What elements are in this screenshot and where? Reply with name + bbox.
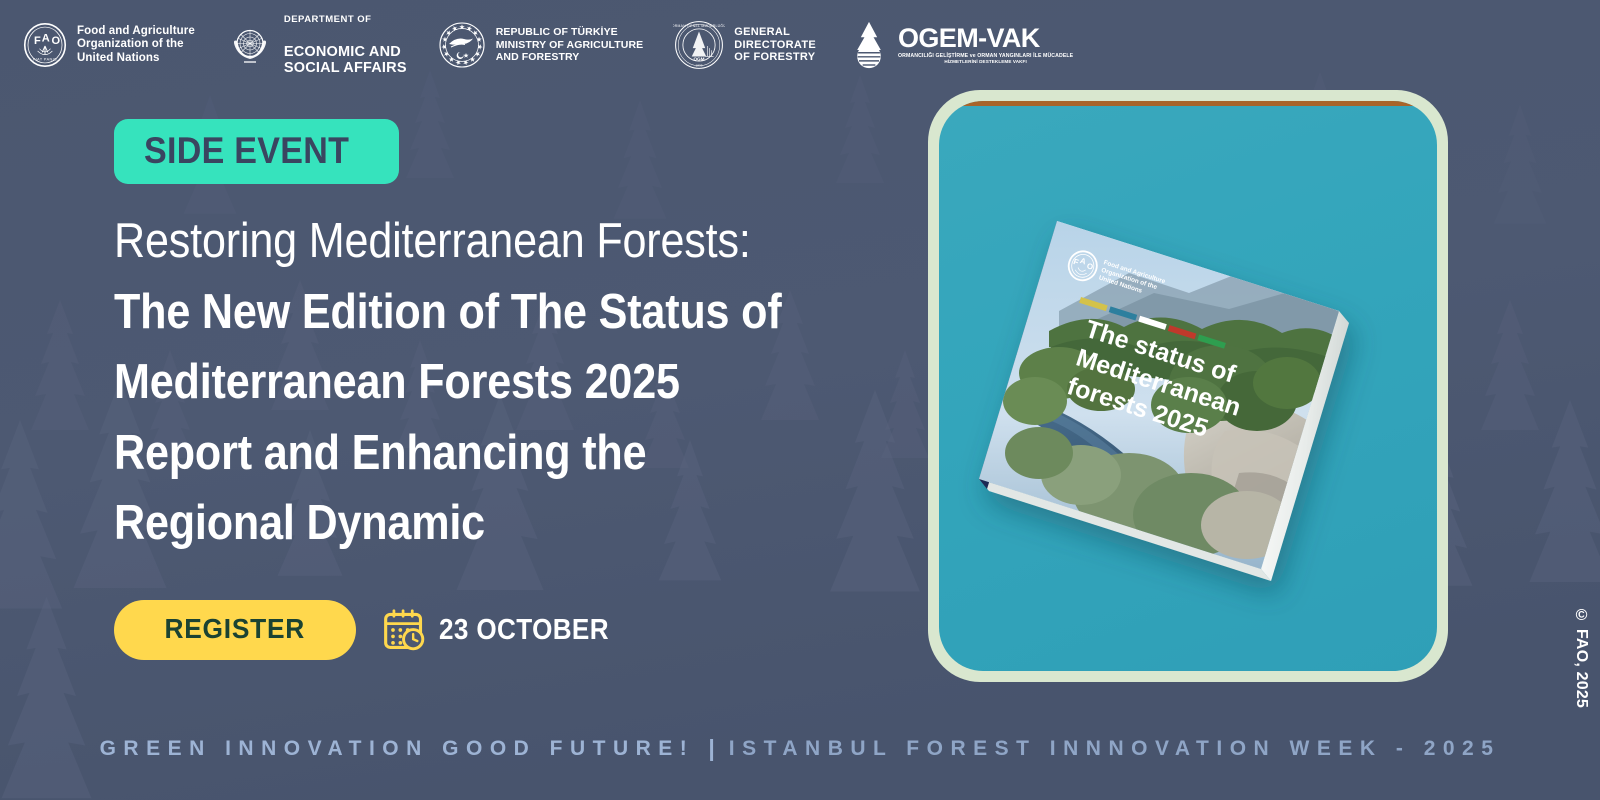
footer-tagline: GREEN INNOVATION GOOD FUTURE! | ISTANBUL… [0, 735, 1600, 762]
logo-un-desa: DEPARTMENT OF ECONOMIC ANDSOCIAL AFFAIRS [225, 0, 437, 95]
headline-line-3: Mediterranean Forests 2025 [114, 347, 818, 418]
logo-turkiye-ministry: REPUBLIC OF TÜRKİYEMINISTRY OF AGRICULTU… [437, 20, 674, 70]
logo-turkiye-label: REPUBLIC OF TÜRKİYEMINISTRY OF AGRICULTU… [496, 26, 644, 63]
event-headline: Restoring Mediterranean Forests: The New… [114, 206, 914, 559]
ogem-vak-tree-icon [846, 20, 892, 70]
svg-text:ORMAN GENEL MÜDÜRLÜĞÜ: ORMAN GENEL MÜDÜRLÜĞÜ [673, 23, 725, 28]
headline-line-2: The New Edition of The Status of [114, 277, 818, 348]
book-cover-panel: F A O Food and Agriculture Organization … [928, 90, 1448, 682]
register-button[interactable]: REGISTER [114, 600, 356, 660]
book-mockup: F A O Food and Agriculture Organization … [939, 101, 1437, 671]
side-event-badge-label: SIDE EVENT [144, 132, 349, 169]
ogem-vak-subtitle-2: HİZMETLERİNİ DESTEKLEME VAKFI [898, 59, 1073, 64]
svg-text:1839: 1839 [696, 63, 703, 67]
logo-gdf-label: GENERALDIRECTORATEOF FORESTRY [734, 26, 816, 65]
logo-fao-label: Food and AgricultureOrganization of theU… [77, 25, 195, 66]
logo-ogem-vak-text: OGEM-VAK ORMANCILIĞI GELİŞTİRME ve ORMAN… [898, 26, 1073, 65]
svg-text:O: O [51, 35, 60, 47]
ogm-emblem-icon: OGM 1839 ORMAN GENEL MÜDÜRLÜĞÜ [673, 19, 725, 71]
footer-slogan-left: GREEN INNOVATION GOOD FUTURE! [100, 737, 695, 761]
un-emblem-icon [225, 20, 275, 70]
ogem-vak-title: OGEM-VAK [898, 26, 1073, 52]
event-date-block: 23 OCTOBER [382, 608, 628, 652]
svg-text:OGM: OGM [694, 57, 705, 62]
partner-logo-bar: F A O FIAT PANIS Food and AgricultureOrg… [22, 14, 1103, 76]
calendar-clock-icon [382, 608, 426, 652]
headline-line-1: Restoring Mediterranean Forests: [114, 206, 818, 277]
fao-emblem-icon: F A O FIAT PANIS [22, 22, 68, 68]
cta-row: REGISTER [114, 600, 627, 660]
svg-text:F: F [34, 35, 41, 47]
turkiye-ministry-emblem-icon [437, 20, 487, 70]
logo-desa-small-line: DEPARTMENT OF [284, 14, 407, 25]
register-button-label: REGISTER [164, 615, 305, 643]
headline-line-4: Report and Enhancing the [114, 418, 818, 489]
svg-text:FIAT PANIS: FIAT PANIS [33, 58, 57, 62]
copyright-notice: © FAO, 2025 [1572, 607, 1590, 708]
event-banner: F A O FIAT PANIS Food and AgricultureOrg… [0, 0, 1600, 800]
footer-slogan-right: ISTANBUL FOREST INNNOVATION WEEK - 2025 [729, 737, 1501, 761]
headline-line-5: Regional Dynamic [114, 488, 818, 559]
svg-text:A: A [42, 32, 50, 44]
book-panel-inner: F A O Food and Agriculture Organization … [939, 101, 1437, 671]
logo-desa-big-lines: ECONOMIC ANDSOCIAL AFFAIRS [284, 44, 407, 76]
logo-general-directorate-forestry: OGM 1839 ORMAN GENEL MÜDÜRLÜĞÜ GENERALDI… [673, 19, 846, 71]
logo-fao: F A O FIAT PANIS Food and AgricultureOrg… [22, 22, 225, 68]
logo-un-desa-label: DEPARTMENT OF ECONOMIC ANDSOCIAL AFFAIRS [284, 0, 407, 95]
logo-ogem-vak: OGEM-VAK ORMANCILIĞI GELİŞTİRME ve ORMAN… [846, 20, 1103, 70]
side-event-badge: SIDE EVENT [114, 119, 399, 184]
footer-separator: | [708, 735, 714, 762]
event-date-label: 23 OCTOBER [439, 614, 609, 647]
